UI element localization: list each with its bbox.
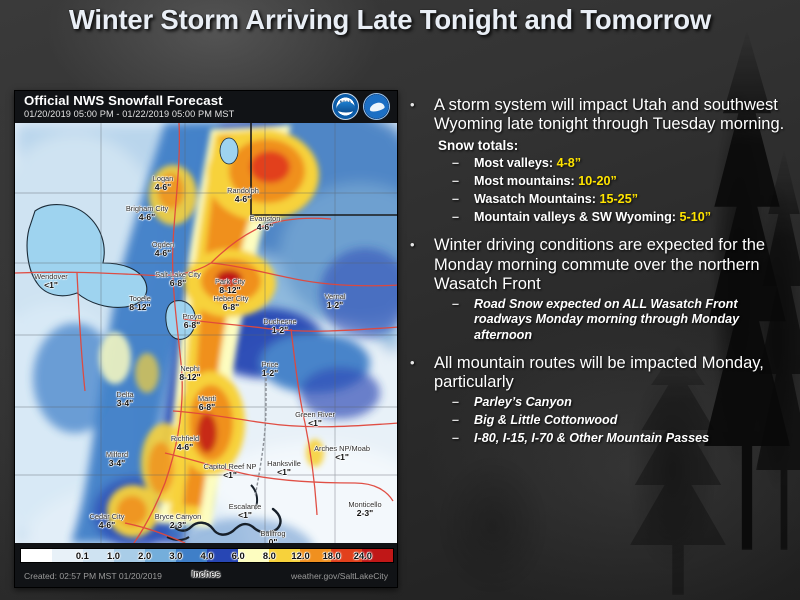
slide-canvas: Winter Storm Arriving Late Tonight and T… bbox=[0, 0, 800, 600]
bullet-sub-item: –Big & Little Cottonwood bbox=[452, 413, 796, 428]
colorbar-tick: 18.0 bbox=[316, 550, 347, 561]
colorbar-tick: 2.0 bbox=[129, 550, 160, 561]
colorbar: 0.11.02.03.04.06.08.012.018.024.0 bbox=[20, 548, 394, 563]
bullet-sub-item: –Wasatch Mountains: 15-25” bbox=[452, 192, 796, 207]
bullet-group: •All mountain routes will be impacted Mo… bbox=[404, 354, 796, 446]
bullet-list: •A storm system will impact Utah and sou… bbox=[404, 96, 796, 457]
bullet-dash-icon: – bbox=[452, 156, 459, 171]
map-created-timestamp: Created: 02:57 PM MST 01/20/2019 bbox=[24, 571, 162, 581]
bullet-sub-item-label: Wasatch Mountains: bbox=[474, 192, 599, 206]
bullet-sub-header: Snow totals: bbox=[438, 138, 796, 154]
colorbar-tick: 24.0 bbox=[347, 550, 378, 561]
noaa-logo-icon: NOAA bbox=[332, 93, 359, 120]
bullet-dot-icon: • bbox=[410, 97, 415, 112]
colorbar-tick: 4.0 bbox=[191, 550, 222, 561]
bullet-main-text: A storm system will impact Utah and sout… bbox=[434, 96, 784, 133]
colorbar-tick: 0.1 bbox=[67, 550, 98, 561]
bullet-sub-item: –Mountain valleys & SW Wyoming: 5-10” bbox=[452, 210, 796, 225]
bullet-sub-item-value: 4-8” bbox=[557, 156, 582, 170]
bullet-dot-icon: • bbox=[410, 355, 415, 370]
colorbar-tick-labels: 0.11.02.03.04.06.08.012.018.024.0 bbox=[20, 548, 394, 563]
bullet-main: •All mountain routes will be impacted Mo… bbox=[404, 354, 796, 393]
bullet-dash-icon: – bbox=[452, 192, 459, 207]
bullet-dash-icon: – bbox=[452, 395, 459, 410]
bullet-sub-item: –I-80, I-15, I-70 & Other Mountain Passe… bbox=[452, 431, 796, 446]
map-header-date-range: 01/20/2019 05:00 PM - 01/22/2019 05:00 P… bbox=[24, 109, 234, 119]
bullet-sub-item-value: 15-25” bbox=[599, 192, 638, 206]
bullet-sub-item-label: Mountain valleys & SW Wyoming: bbox=[474, 210, 680, 224]
bullet-sub-item-label: Most valleys: bbox=[474, 156, 557, 170]
bullet-main: •A storm system will impact Utah and sou… bbox=[404, 96, 796, 135]
map-units-label: Inches bbox=[192, 569, 221, 579]
bullet-sub-item: –Road Snow expected on ALL Wasatch Front… bbox=[452, 297, 796, 343]
bullet-sub-item-value: 10-20” bbox=[578, 174, 617, 188]
colorbar-tick: 6.0 bbox=[223, 550, 254, 561]
slide-title: Winter Storm Arriving Late Tonight and T… bbox=[40, 4, 740, 36]
map-header-title: Official NWS Snowfall Forecast bbox=[24, 93, 223, 108]
colorbar-tick: 1.0 bbox=[98, 550, 129, 561]
bullet-dash-icon: – bbox=[452, 210, 459, 225]
map-header: Official NWS Snowfall Forecast 01/20/201… bbox=[15, 91, 397, 123]
bullet-dash-icon: – bbox=[452, 431, 459, 446]
bullet-dash-icon: – bbox=[452, 413, 459, 428]
bullet-sub-item-text: I-80, I-15, I-70 & Other Mountain Passes bbox=[474, 431, 709, 445]
bullet-sub-item: –Most valleys: 4-8” bbox=[452, 156, 796, 171]
bullet-dot-icon: • bbox=[410, 237, 415, 252]
bullet-sub-item: –Most mountains: 10-20” bbox=[452, 174, 796, 189]
bullet-group: •Winter driving conditions are expected … bbox=[404, 236, 796, 343]
snowfall-map-graphic bbox=[15, 123, 398, 543]
bullet-sub-item: –Parley’s Canyon bbox=[452, 395, 796, 410]
bullet-main-text: All mountain routes will be impacted Mon… bbox=[434, 354, 764, 391]
bullet-sub-item-label: Most mountains: bbox=[474, 174, 578, 188]
bullet-dash-icon: – bbox=[452, 174, 459, 189]
map-website-label: weather.gov/SaltLakeCity bbox=[291, 571, 388, 581]
noaa-logo-text: NOAA bbox=[340, 100, 351, 104]
bullet-main: •Winter driving conditions are expected … bbox=[404, 236, 796, 294]
colorbar-tick: 8.0 bbox=[254, 550, 285, 561]
nws-logo-icon bbox=[363, 93, 390, 120]
snowfall-map-canvas: Logan4-6"Randolph4-6"Brigham City4-6"Eva… bbox=[15, 123, 398, 543]
bullet-sub-item-text: Road Snow expected on ALL Wasatch Front … bbox=[474, 297, 739, 342]
bullet-sub-item-value: 5-10” bbox=[680, 210, 712, 224]
bullet-group: •A storm system will impact Utah and sou… bbox=[404, 96, 796, 225]
colorbar-tick: 3.0 bbox=[160, 550, 191, 561]
map-footer: Created: 02:57 PM MST 01/20/2019 Inches … bbox=[15, 565, 397, 587]
snowfall-forecast-map-panel: Official NWS Snowfall Forecast 01/20/201… bbox=[14, 90, 398, 588]
colorbar-tick: 12.0 bbox=[285, 550, 316, 561]
bullet-sub-item-text: Parley’s Canyon bbox=[474, 395, 572, 409]
bullet-dash-icon: – bbox=[452, 297, 459, 312]
bullet-main-text: Winter driving conditions are expected f… bbox=[434, 236, 765, 293]
bullet-sub-item-text: Big & Little Cottonwood bbox=[474, 413, 617, 427]
